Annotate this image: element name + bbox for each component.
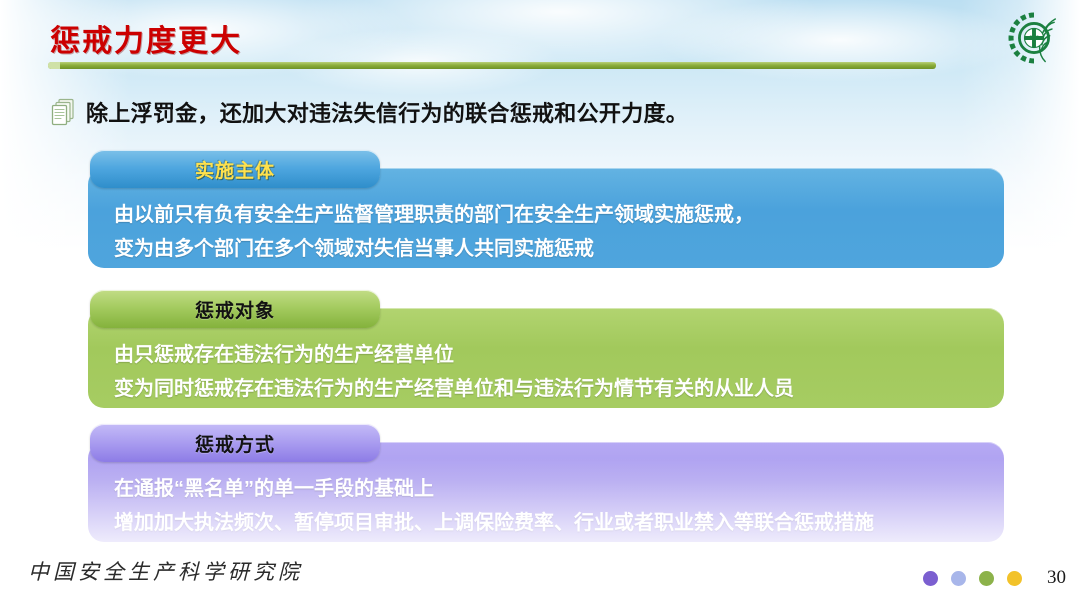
title-underline-cap	[48, 62, 60, 69]
bullet-text: 除上浮罚金，还加大对违法失信行为的联合惩戒和公开力度。	[86, 96, 688, 128]
dot-yellow	[1007, 571, 1022, 586]
bullet-row: 除上浮罚金，还加大对违法失信行为的联合惩戒和公开力度。	[50, 96, 688, 128]
card-tab: 惩戒方式	[90, 424, 380, 462]
card-tab-label: 惩戒对象	[195, 296, 275, 323]
card-line: 由以前只有负有安全生产监督管理职责的部门在安全生产领域实施惩戒，	[114, 198, 1004, 232]
card-line: 变为由多个部门在多个领域对失信当事人共同实施惩戒	[114, 232, 1004, 266]
card-punishment-target: 由只惩戒存在违法行为的生产经营单位 变为同时惩戒存在违法行为的生产经营单位和与违…	[88, 290, 1004, 408]
dot-periwinkle	[951, 571, 966, 586]
card-tab-label: 实施主体	[195, 156, 275, 183]
dot-green	[979, 571, 994, 586]
card-line: 变为同时惩戒存在违法行为的生产经营单位和与违法行为情节有关的从业人员	[114, 372, 1004, 406]
footer-organization: 中国安全生产科学研究院	[28, 556, 303, 586]
card-line: 由只惩戒存在违法行为的生产经营单位	[114, 338, 1004, 372]
dot-purple	[923, 571, 938, 586]
footer-dots	[923, 571, 1022, 586]
page-number: 30	[1047, 567, 1066, 589]
card-tab-label: 惩戒方式	[195, 430, 275, 457]
cast-emblem-logo: CAS	[1006, 10, 1062, 66]
card-implementation-subject: 由以前只有负有安全生产监督管理职责的部门在安全生产领域实施惩戒， 变为由多个部门…	[88, 150, 1004, 268]
slide-title: 惩戒力度更大	[50, 16, 242, 60]
logo-inner-text: CAS	[1029, 36, 1040, 42]
title-underline-bar	[48, 62, 936, 69]
card-tab: 惩戒对象	[90, 290, 380, 328]
slide-canvas: 惩戒力度更大 CAS	[0, 0, 1080, 608]
documents-icon	[50, 98, 76, 126]
card-tab: 实施主体	[90, 150, 380, 188]
